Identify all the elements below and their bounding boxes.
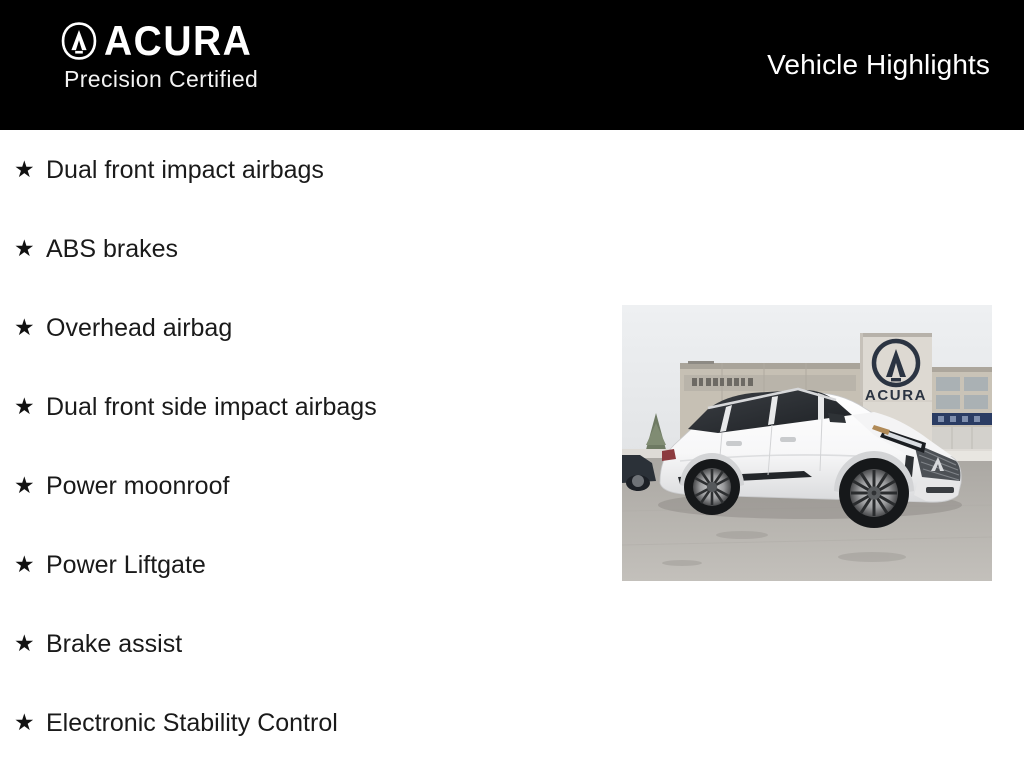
- list-item-label: ABS brakes: [46, 235, 178, 263]
- vehicle-photo: ACURA: [622, 305, 992, 581]
- brand-lockup-block: ACURA Precision Certified: [60, 21, 360, 93]
- star-bullet-icon: ★: [14, 237, 34, 260]
- star-bullet-icon: ★: [14, 711, 34, 734]
- star-bullet-icon: ★: [14, 553, 34, 576]
- list-item-label: Dual front impact airbags: [46, 156, 324, 184]
- list-item: ★ Power moonroof: [0, 446, 600, 525]
- star-bullet-icon: ★: [14, 316, 34, 339]
- star-bullet-icon: ★: [14, 395, 34, 418]
- dealership-sign-text: ACURA: [865, 387, 927, 404]
- acura-caliper-emblem-icon: [60, 22, 98, 60]
- page-content: ★ Dual front impact airbags ★ ABS brakes…: [0, 130, 1024, 768]
- list-item-label: Power Liftgate: [46, 551, 206, 579]
- vehicle-highlights-list: ★ Dual front impact airbags ★ ABS brakes…: [0, 130, 600, 762]
- vehicle-photo-illustration: ACURA: [622, 305, 992, 581]
- list-item: ★ Electronic Stability Control: [0, 683, 600, 762]
- list-item-label: Brake assist: [46, 630, 182, 658]
- dealership-name-text: [692, 378, 753, 386]
- list-item-label: Power moonroof: [46, 472, 229, 500]
- list-item-label: Overhead airbag: [46, 314, 232, 342]
- front-wheel: [839, 458, 909, 528]
- star-bullet-icon: ★: [14, 474, 34, 497]
- star-bullet-icon: ★: [14, 632, 34, 655]
- list-item-label: Electronic Stability Control: [46, 709, 338, 737]
- list-item-label: Dual front side impact airbags: [46, 393, 377, 421]
- star-bullet-icon: ★: [14, 158, 34, 181]
- list-item: ★ Power Liftgate: [0, 525, 600, 604]
- page-title: Vehicle Highlights: [767, 49, 990, 81]
- brand-tagline: Precision Certified: [64, 66, 360, 93]
- list-item: ★ Dual front side impact airbags: [0, 367, 600, 446]
- rear-wheel: [684, 459, 740, 515]
- list-item: ★ Brake assist: [0, 604, 600, 683]
- acura-wordmark: ACURA: [104, 20, 252, 61]
- page-header: ACURA Precision Certified Vehicle Highli…: [0, 0, 1024, 130]
- acura-brand-lockup: ACURA: [60, 21, 360, 61]
- list-item: ★ ABS brakes: [0, 209, 600, 288]
- list-item: ★ Overhead airbag: [0, 288, 600, 367]
- list-item: ★ Dual front impact airbags: [0, 130, 600, 209]
